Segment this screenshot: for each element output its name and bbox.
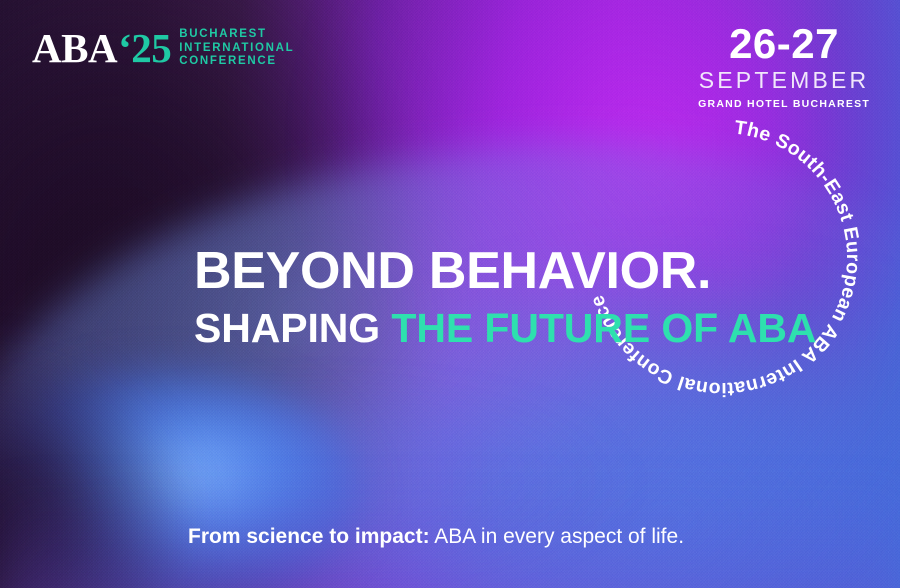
- event-dates: 26-27: [698, 22, 870, 66]
- headline-block: BEYOND BEHAVIOR. SHAPING THE FUTURE OF A…: [194, 243, 816, 351]
- tagline-emphasis: From science to impact:: [188, 525, 430, 548]
- logo-subtitle-line-3: CONFERENCE: [179, 55, 294, 69]
- conference-banner: ABA ‘25 BUCHAREST INTERNATIONAL CONFEREN…: [0, 0, 900, 588]
- headline-line-2-white: SHAPING: [194, 305, 391, 351]
- headline-line-2-teal: THE FUTURE OF ABA: [391, 305, 816, 351]
- event-venue: GRAND HOTEL BUCHAREST: [698, 97, 870, 111]
- headline-line-2: SHAPING THE FUTURE OF ABA: [194, 305, 816, 351]
- headline-line-1: BEYOND BEHAVIOR.: [194, 243, 816, 299]
- event-month: SEPTEMBER: [698, 67, 870, 93]
- logo-aba-mark: ABA: [32, 28, 117, 69]
- logo-subtitle-line-1: BUCHAREST: [179, 28, 294, 42]
- bottom-tagline: From science to impact: ABA in every asp…: [188, 524, 684, 550]
- brand-logo[interactable]: ABA ‘25 BUCHAREST INTERNATIONAL CONFEREN…: [32, 28, 294, 69]
- logo-subtitle-block: BUCHAREST INTERNATIONAL CONFERENCE: [179, 28, 294, 69]
- logo-year-mark: ‘25: [118, 28, 171, 69]
- logo-subtitle-line-2: INTERNATIONAL: [179, 42, 294, 56]
- event-date-block: 26-27 SEPTEMBER GRAND HOTEL BUCHAREST: [698, 22, 870, 111]
- tagline-remainder: ABA in every aspect of life.: [430, 525, 684, 548]
